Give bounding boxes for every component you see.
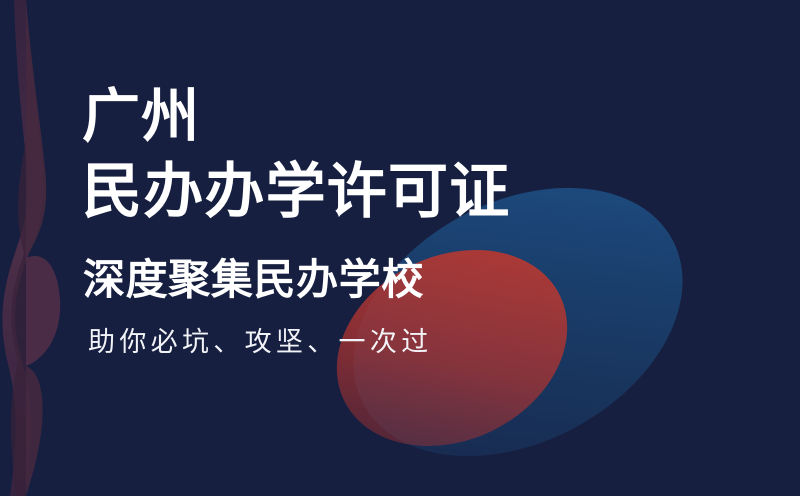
- banner-text-block: 广州 民办办学许可证 深度聚集民办学校 助你必坑、攻坚、一次过: [0, 0, 800, 496]
- page-title-line-2: 民办办学许可证: [82, 162, 510, 222]
- page-title-line-1: 广州: [82, 88, 200, 146]
- promo-banner: 广州 民办办学许可证 深度聚集民办学校 助你必坑、攻坚、一次过: [0, 0, 800, 496]
- banner-tagline: 助你必坑、攻坚、一次过: [88, 329, 433, 356]
- banner-subtitle: 深度聚集民办学校: [83, 259, 424, 301]
